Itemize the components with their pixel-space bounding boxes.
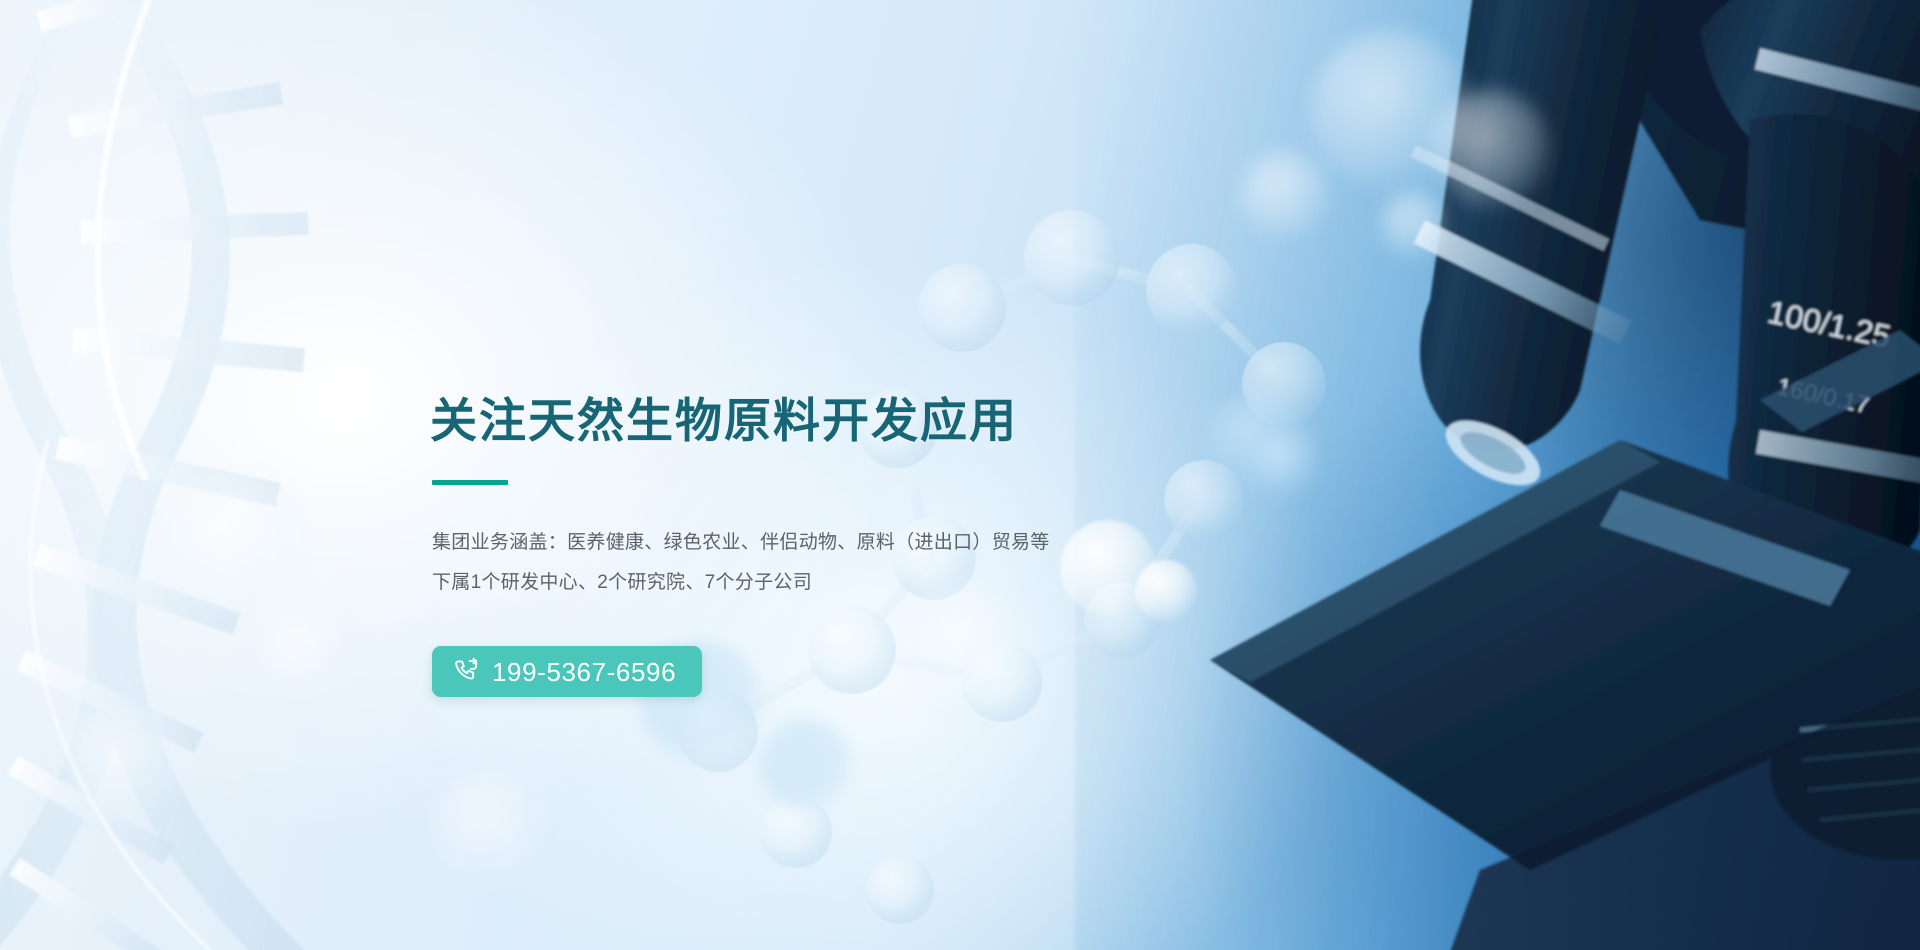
hero-description-line-2: 下属1个研发中心、2个研究院、7个分子公司 [432,563,1190,603]
phone-cta-button[interactable]: 199-5367-6596 [432,646,702,697]
phone-forward-icon [453,658,480,685]
hero-content: 关注天然生物原料开发应用 集团业务涵盖：医养健康、绿色农业、伴侣动物、原料（进出… [430,392,1190,697]
title-underline-divider [432,480,508,485]
background-right-blue-wash [1075,0,1920,950]
page-title: 关注天然生物原料开发应用 [430,392,1190,449]
hero-description-line-1: 集团业务涵盖：医养健康、绿色农业、伴侣动物、原料（进出口）贸易等 [432,523,1190,563]
hero-banner: 100/1.25 160/0.17 40 100 [0,0,1920,950]
hero-description: 集团业务涵盖：医养健康、绿色农业、伴侣动物、原料（进出口）贸易等 下属1个研发中… [432,523,1190,603]
phone-number-text: 199-5367-6596 [492,659,676,685]
